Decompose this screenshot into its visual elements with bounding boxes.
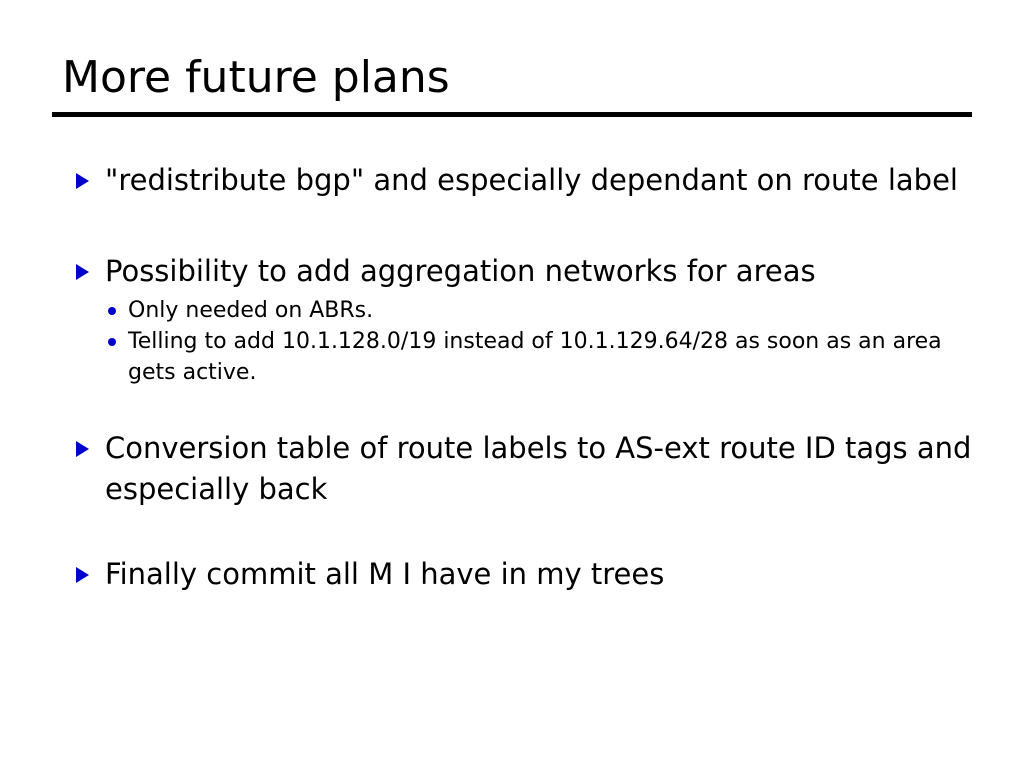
dot-icon (108, 338, 116, 346)
list-item-label: Finally commit all M I have in my trees (105, 554, 974, 595)
triangle-right-icon (76, 173, 89, 189)
slide-body: "redistribute bgp" and especially depend… (74, 160, 974, 595)
slide-title-block: More future plans (52, 52, 972, 117)
sub-list-item-label: Telling to add 10.1.128.0/19 instead of … (128, 326, 974, 388)
slide: More future plans "redistribute bgp" and… (0, 0, 1024, 768)
page-title: More future plans (52, 52, 972, 104)
triangle-right-icon (76, 264, 89, 280)
sub-list-item-label: Only needed on ABRs. (128, 295, 974, 326)
list-item: Conversion table of route labels to AS-e… (74, 428, 974, 510)
list-item: Finally commit all M I have in my trees (74, 554, 974, 595)
triangle-right-icon (76, 567, 89, 583)
dot-icon (108, 307, 116, 315)
sub-list-item: Telling to add 10.1.128.0/19 instead of … (74, 326, 974, 388)
spacer (74, 388, 974, 428)
sub-list-item: Only needed on ABRs. (74, 295, 974, 326)
sub-list: Only needed on ABRs. Telling to add 10.1… (74, 295, 974, 388)
title-divider (52, 112, 972, 117)
list-item: Possibility to add aggregation networks … (74, 251, 974, 292)
list-item-label: Conversion table of route labels to AS-e… (105, 428, 974, 510)
spacer (74, 201, 974, 251)
list-item: "redistribute bgp" and especially depend… (74, 160, 974, 201)
list-item-label: "redistribute bgp" and especially depend… (105, 160, 974, 201)
triangle-right-icon (76, 441, 89, 457)
list-item-label: Possibility to add aggregation networks … (105, 251, 974, 292)
spacer (74, 510, 974, 554)
